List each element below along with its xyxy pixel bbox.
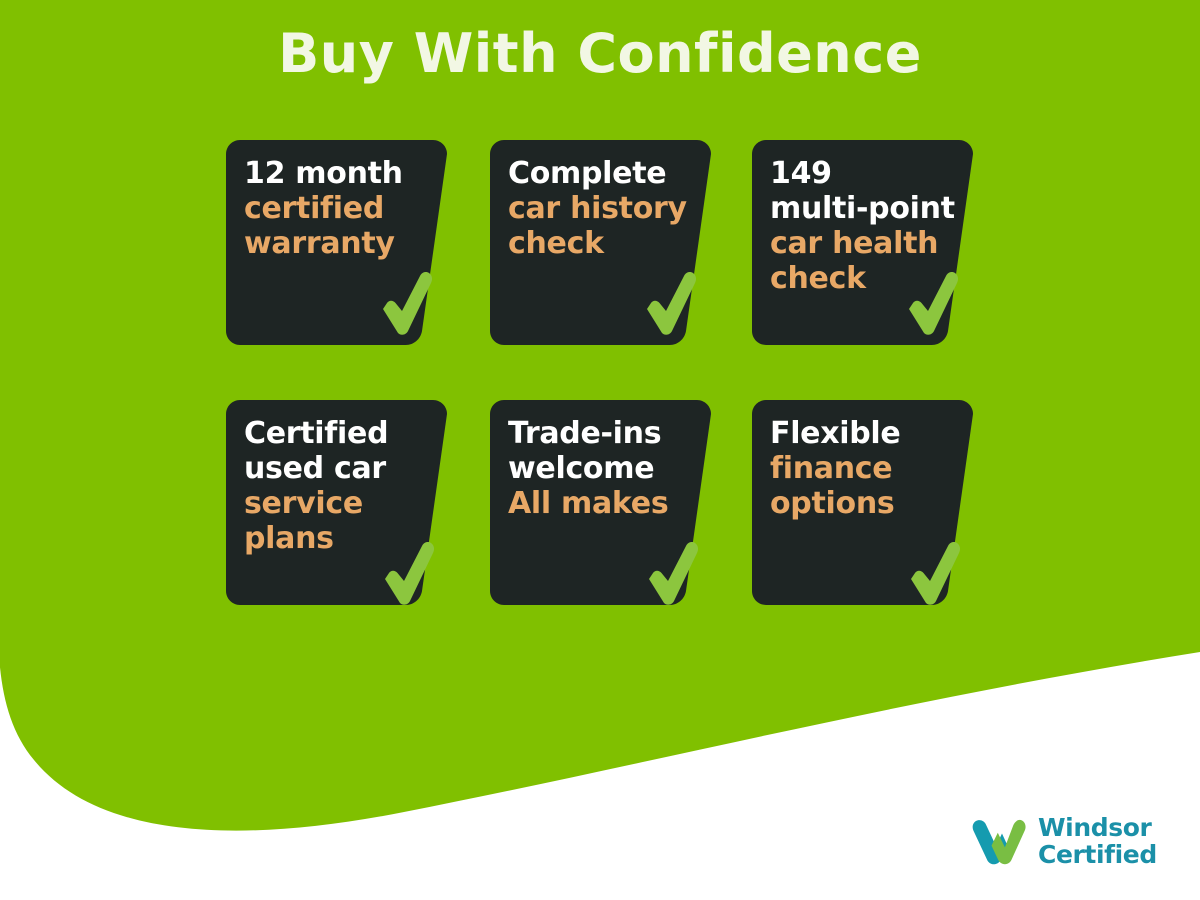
card-text: Trade-ins welcome All makes — [508, 416, 693, 521]
card-line-amber: check — [770, 261, 955, 296]
promo-graphic: Buy With Confidence 12 month certified w… — [0, 0, 1200, 900]
card-text: 149 multi-point car health check — [770, 156, 955, 296]
logo-line-2: Certified — [1038, 841, 1157, 868]
card-line-amber: car history — [508, 191, 693, 226]
card-line-amber: car health — [770, 226, 955, 261]
page-title: Buy With Confidence — [0, 22, 1200, 86]
card-text: 12 month certified warranty — [244, 156, 429, 261]
card-text: Certified used car service plans — [244, 416, 429, 556]
card-line-amber: plans — [244, 521, 429, 556]
feature-card[interactable]: 149 multi-point car health check — [752, 140, 973, 345]
card-line-white: used car — [244, 451, 429, 486]
card-line-white: multi-point — [770, 191, 955, 226]
logo-line-1: Windsor — [1038, 814, 1157, 841]
card-line-white: Trade-ins — [508, 416, 693, 451]
brand-logo[interactable]: Windsor Certified — [972, 810, 1162, 872]
card-line-white: Flexible — [770, 416, 955, 451]
card-line-white: 149 — [770, 156, 955, 191]
card-line-amber: warranty — [244, 226, 429, 261]
logo-wordmark: Windsor Certified — [1038, 814, 1157, 868]
feature-card[interactable]: Trade-ins welcome All makes — [490, 400, 711, 605]
feature-card-grid: 12 month certified warranty Complete car… — [226, 140, 978, 605]
card-line-white: Complete — [508, 156, 693, 191]
card-line-amber: check — [508, 226, 693, 261]
feature-card[interactable]: Certified used car service plans — [226, 400, 447, 605]
card-line-white: 12 month — [244, 156, 429, 191]
card-row-bottom: Certified used car service plans Trade-i… — [226, 400, 978, 605]
card-line-white: welcome — [508, 451, 693, 486]
card-line-white: Certified — [244, 416, 429, 451]
card-line-amber: certified — [244, 191, 429, 226]
card-row-top: 12 month certified warranty Complete car… — [226, 140, 978, 345]
card-line-amber: finance — [770, 451, 955, 486]
card-text: Complete car history check — [508, 156, 693, 261]
card-line-amber: options — [770, 486, 955, 521]
feature-card[interactable]: 12 month certified warranty — [226, 140, 447, 345]
card-text: Flexible finance options — [770, 416, 955, 521]
feature-card[interactable]: Flexible finance options — [752, 400, 973, 605]
windsor-w-logo-icon — [972, 816, 1028, 866]
card-line-amber: service — [244, 486, 429, 521]
card-line-amber: All makes — [508, 486, 693, 521]
feature-card[interactable]: Complete car history check — [490, 140, 711, 345]
